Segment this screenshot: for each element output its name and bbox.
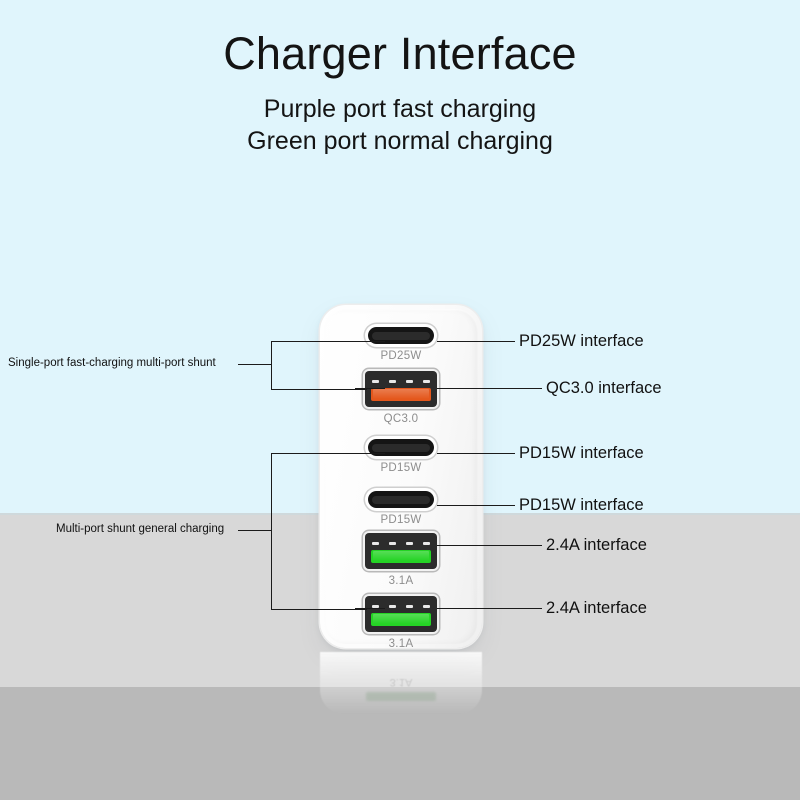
callout-qc30: QC3.0 interface <box>546 379 662 398</box>
leader-line-31a-1 <box>437 545 542 546</box>
callout-31a-2: 2.4A interface <box>546 599 647 618</box>
usb-a-port-icon[interactable] <box>365 371 437 407</box>
bracket-top-tick-qc30 <box>355 388 385 389</box>
callout-pd15w-2: PD15W interface <box>519 496 644 515</box>
usb-a-pins <box>372 378 430 385</box>
page-title: Charger Interface <box>0 30 800 77</box>
port-label-qc30: QC3.0 <box>320 413 482 425</box>
callout-31a-1: 2.4A interface <box>546 536 647 555</box>
bracket-bottom-tick-pd15w <box>355 453 385 454</box>
leader-line-31a-2 <box>437 608 542 609</box>
leader-line-qc30 <box>437 388 542 389</box>
callout-pd15w-1: PD15W interface <box>519 444 644 463</box>
annotation-top-group: Single-port fast-charging multi-port shu… <box>8 357 216 369</box>
leader-line-pd15w-2 <box>437 505 515 506</box>
port-label-31a-2: 3.1A <box>320 638 482 650</box>
usb-a-port-icon[interactable] <box>365 533 437 569</box>
usb-a-port-icon[interactable] <box>365 596 437 632</box>
usb-a-tongue <box>371 388 431 401</box>
annotation-bottom-group: Multi-port shunt general charging <box>56 523 224 535</box>
bracket-bottom-group <box>271 453 367 610</box>
leader-line-pd25w <box>437 341 515 342</box>
header-block: Charger Interface Purple port fast charg… <box>0 30 800 157</box>
bracket-bottom-stem <box>238 530 272 531</box>
callout-pd25w: PD25W interface <box>519 332 644 351</box>
usb-a-tongue <box>371 613 431 626</box>
infographic-canvas: Charger Interface Purple port fast charg… <box>0 0 800 800</box>
usb-a-pins <box>372 540 430 547</box>
usb-a-tongue <box>371 550 431 563</box>
bracket-top-stem <box>238 364 272 365</box>
reflection-label: 3.1A <box>320 676 482 688</box>
usb-c-port-icon[interactable] <box>368 491 434 508</box>
leader-line-pd15w-1 <box>437 453 515 454</box>
bracket-top-tick-pd25w <box>355 341 385 342</box>
charger-reflection: 3.1A <box>320 652 482 714</box>
bracket-bottom-tick-31a <box>355 608 385 609</box>
reflection-port <box>366 692 436 701</box>
subtitle-fast: Purple port fast charging <box>0 93 800 125</box>
bracket-top-group <box>271 341 367 390</box>
subtitle-normal: Green port normal charging <box>0 125 800 157</box>
